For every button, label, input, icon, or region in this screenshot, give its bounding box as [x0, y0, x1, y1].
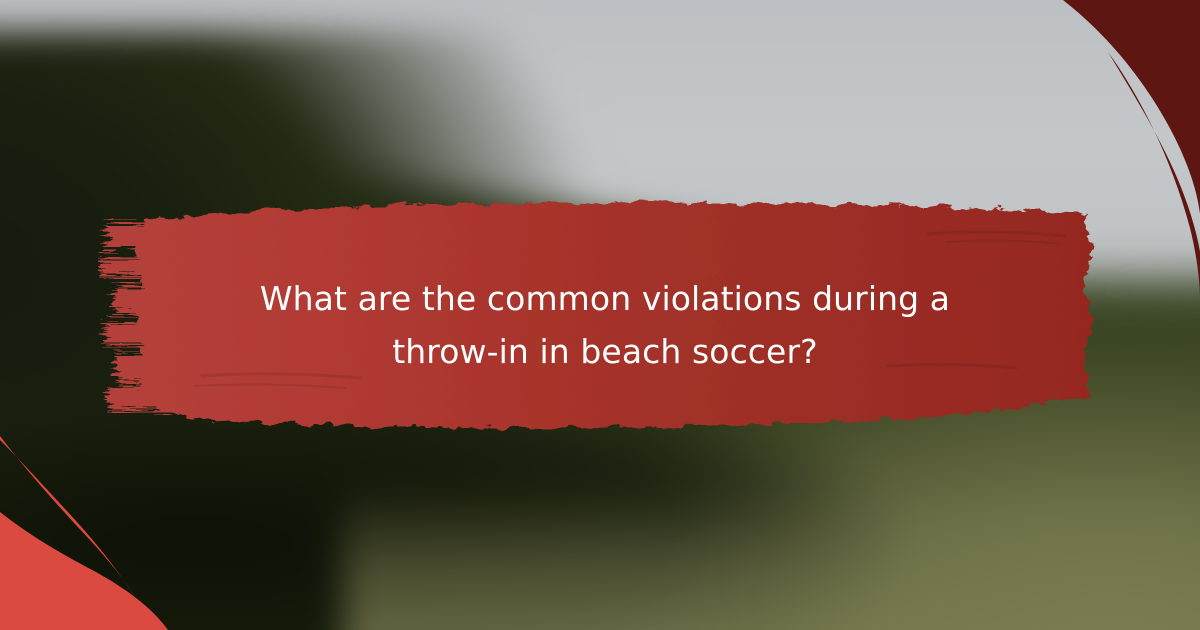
quote-card: What are the common violations during a … [0, 0, 1200, 630]
headline-text: What are the common violations during a … [150, 272, 1060, 379]
lower-olive-wash [344, 485, 1200, 630]
